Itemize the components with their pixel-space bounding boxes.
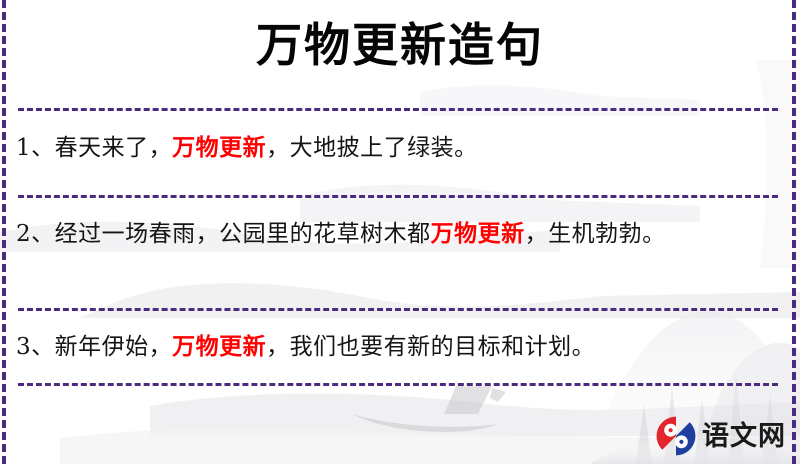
sentence-2-index: 2、 [16,221,55,247]
separator-rule-3 [18,308,778,311]
site-logo: 语文网 [656,416,786,456]
sentence-item-2: 2、经过一场春雨，公园里的花草树木都万物更新，生机勃勃。 [16,212,774,256]
sentence-2-keyword: 万物更新 [431,220,525,247]
sentence-3-index: 3、 [16,334,55,360]
sentence-3-text-before: 新年伊始， [55,334,173,360]
separator-rule-2 [18,195,778,198]
content-area: 万物更新造句 1、春天来了，万物更新，大地披上了绿装。 2、经过一场春雨，公园里… [0,0,800,464]
frame-right-dashed-rule [792,0,796,464]
sentence-1-text-after: ，大地披上了绿装。 [266,135,478,161]
sentence-item-3: 3、新年伊始，万物更新，我们也要有新的目标和计划。 [16,325,774,369]
frame-left-dashed-rule [2,0,6,464]
separator-rule-4 [18,383,778,386]
sentence-2-text-before: 经过一场春雨，公园里的花草树木都 [55,221,431,247]
yinyang-circle-icon [656,416,696,456]
site-logo-text: 语文网 [702,423,786,450]
sentence-2-text-after: ，生机勃勃。 [525,221,666,247]
worksheet-page: 万物更新造句 1、春天来了，万物更新，大地披上了绿装。 2、经过一场春雨，公园里… [0,0,800,464]
sentence-1-keyword: 万物更新 [172,134,266,161]
sentence-1-text-before: 春天来了， [55,135,173,161]
separator-rule-1 [18,108,778,111]
page-title: 万物更新造句 [0,18,800,73]
sentence-item-1: 1、春天来了，万物更新，大地披上了绿装。 [16,126,774,170]
sentence-3-keyword: 万物更新 [172,333,266,360]
sentence-3-text-after: ，我们也要有新的目标和计划。 [266,334,595,360]
sentence-1-index: 1、 [16,135,55,161]
